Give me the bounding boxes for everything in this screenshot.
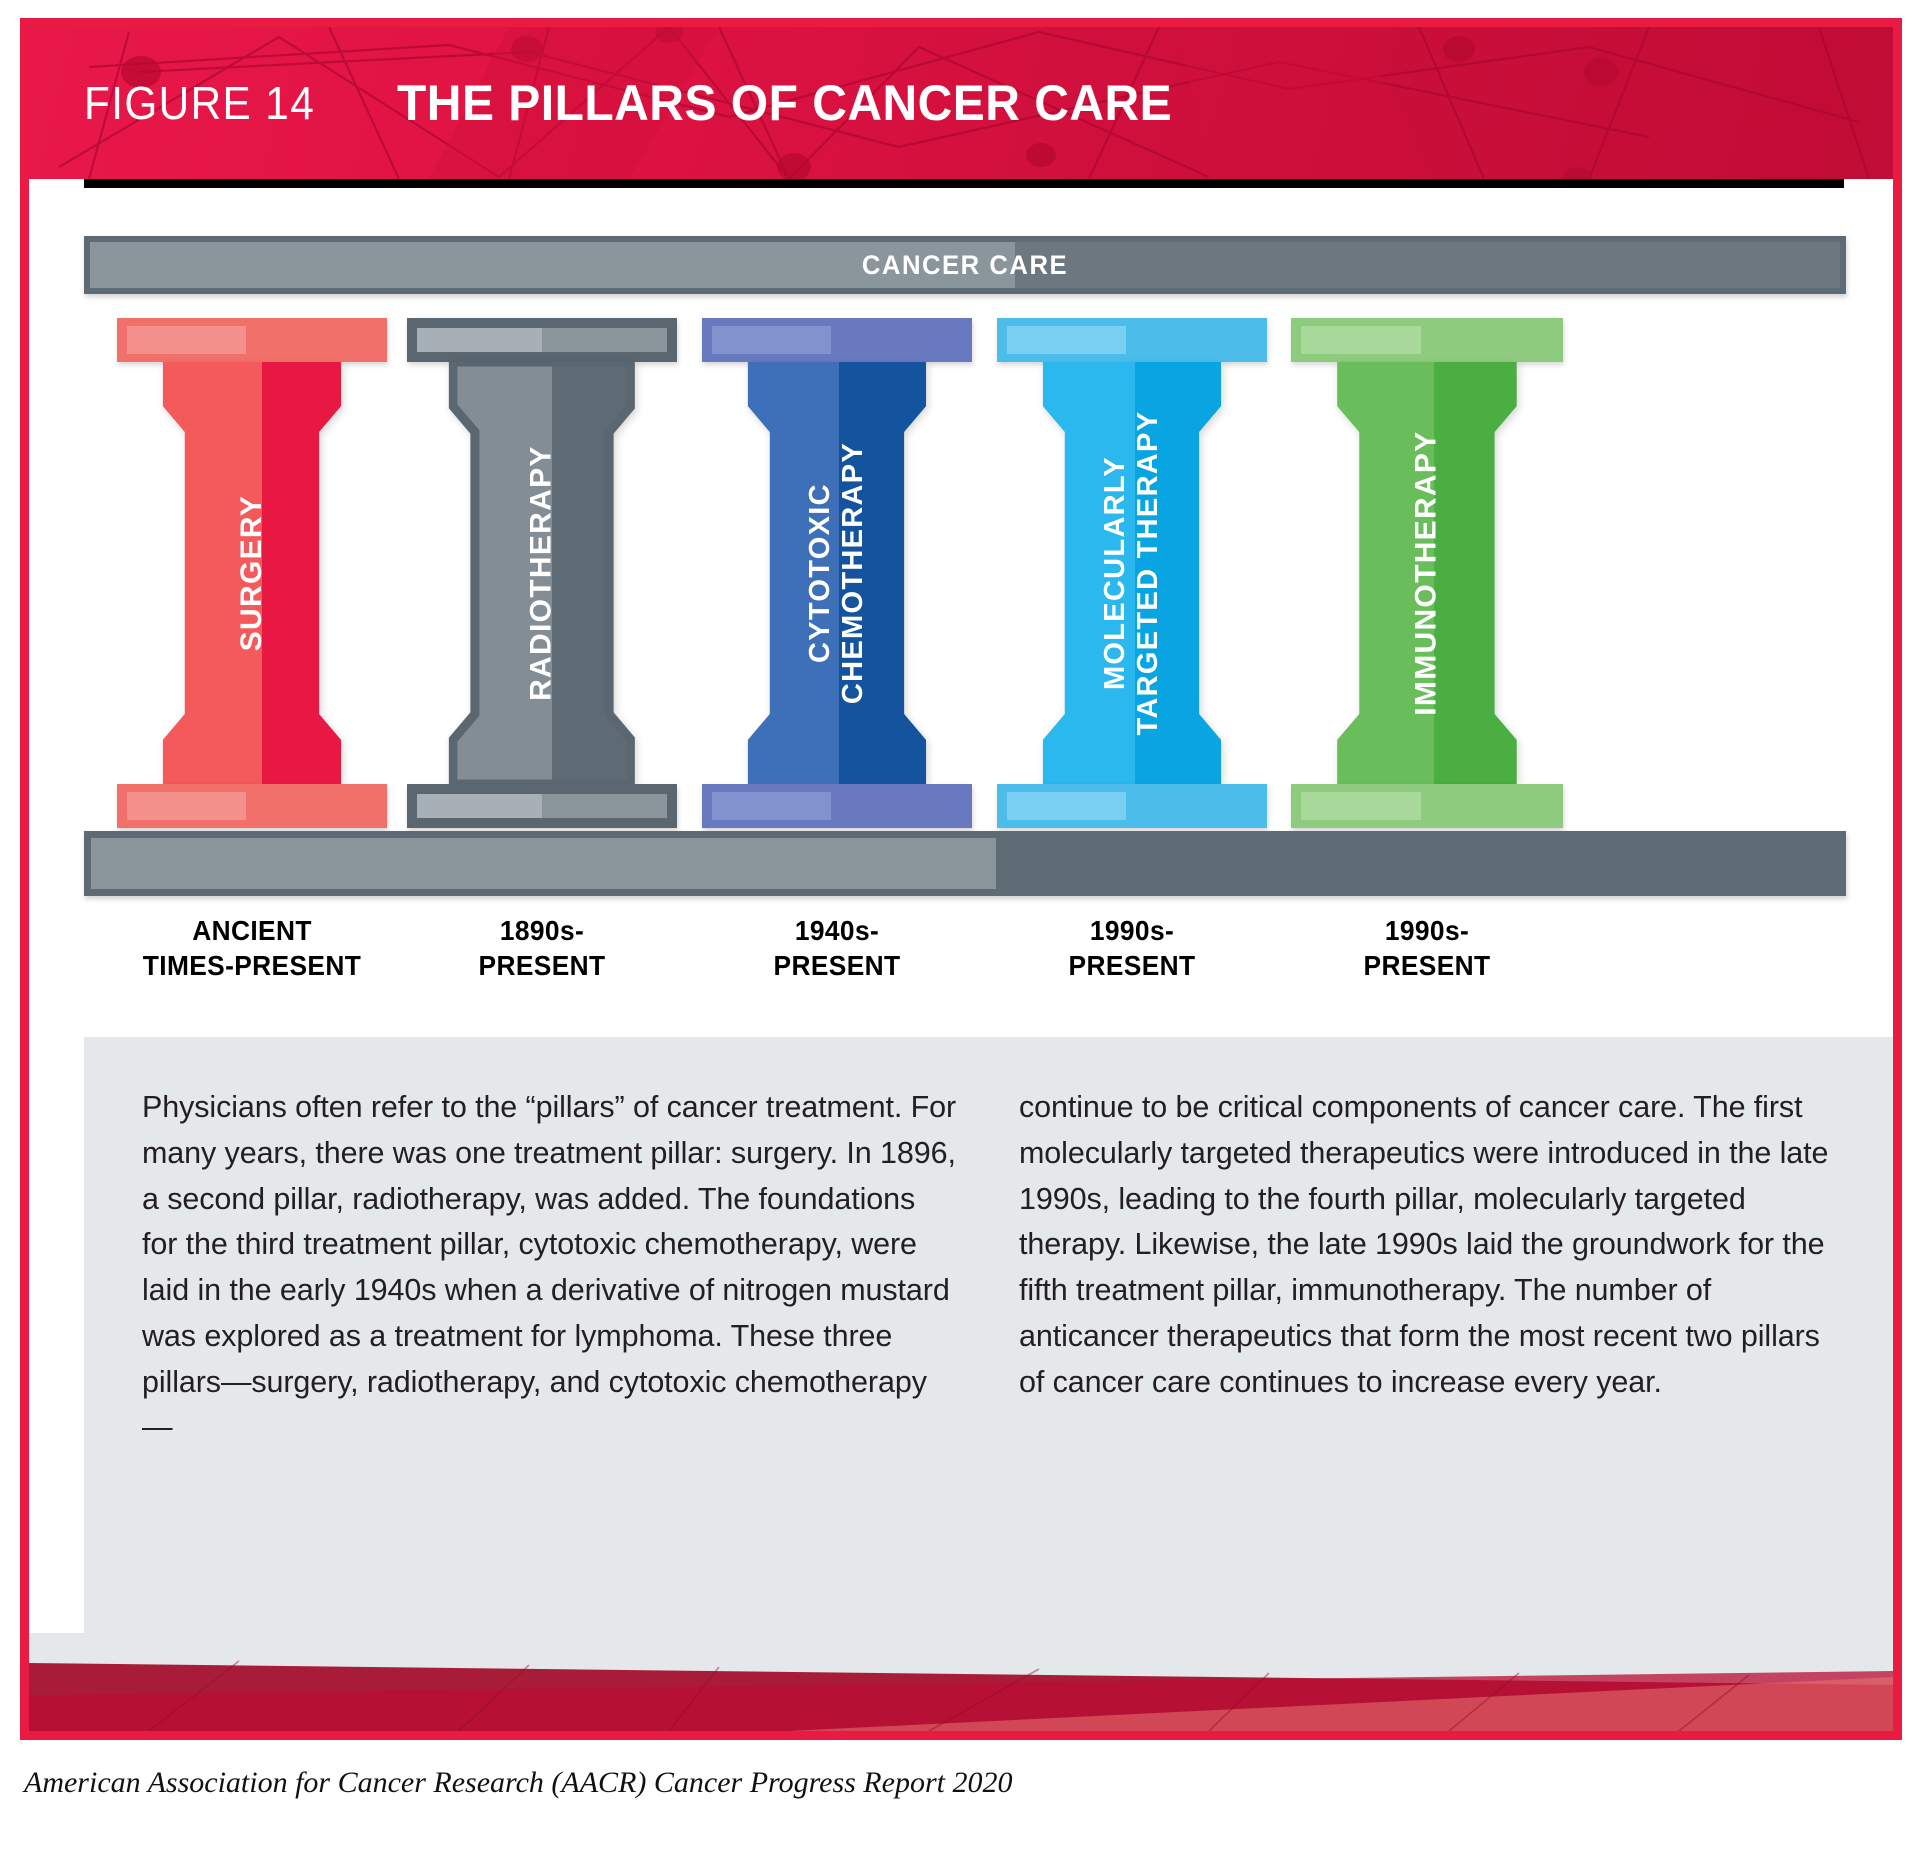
pillar-column: CYTOTOXIC CHEMOTHERAPY xyxy=(744,362,930,784)
pillars-row: SURGERY xyxy=(29,188,1893,1033)
date-line-1: 1940s- xyxy=(795,915,879,946)
capital-highlight xyxy=(712,326,831,354)
pillar-base xyxy=(407,784,677,828)
date-label-radiotherapy: 1890s- PRESENT xyxy=(406,913,679,983)
pillar-column: SURGERY xyxy=(159,362,345,784)
figure-header: FIGURE 14 THE PILLARS OF CANCER CARE xyxy=(29,27,1893,179)
pillar-capital xyxy=(1291,318,1563,362)
caption-column-left: Physicians often refer to the “pillars” … xyxy=(142,1085,957,1637)
date-line-1: 1990s- xyxy=(1090,915,1174,946)
capital-highlight xyxy=(127,326,246,354)
figure-title: THE PILLARS OF CANCER CARE xyxy=(397,74,1172,132)
pillar-capital xyxy=(407,318,677,362)
date-line-2: TIMES-PRESENT xyxy=(143,950,361,981)
pillar-immunotherapy[interactable]: IMMUNOTHERAPY xyxy=(1291,318,1563,828)
date-line-2: PRESENT xyxy=(1069,950,1196,981)
pillar-molecularly-targeted-therapy[interactable]: MOLECULARLY TARGETED THERAPY xyxy=(997,318,1267,828)
pillar-capital xyxy=(997,318,1267,362)
date-line-2: PRESENT xyxy=(774,950,901,981)
capital-base-fill xyxy=(542,328,667,352)
pillar-surgery[interactable]: SURGERY xyxy=(117,318,387,828)
caption-text-right: continue to be critical components of ca… xyxy=(1019,1085,1834,1405)
caption-column-right: continue to be critical components of ca… xyxy=(1019,1085,1834,1637)
pillar-capital xyxy=(702,318,972,362)
capital-highlight xyxy=(1007,326,1126,354)
pillar-base xyxy=(117,784,387,828)
date-label-surgery: ANCIENT TIMES-PRESENT xyxy=(97,913,407,983)
pillar-base xyxy=(702,784,972,828)
date-line-2: PRESENT xyxy=(479,950,606,981)
timeline-labels: ANCIENT TIMES-PRESENT 1890s- PRESENT 194… xyxy=(29,913,1893,1023)
capital-highlight xyxy=(417,328,542,352)
date-line-1: 1990s- xyxy=(1385,915,1469,946)
base-highlight xyxy=(1301,792,1421,820)
pillar-cytotoxic-chemotherapy[interactable]: CYTOTOXIC CHEMOTHERAPY xyxy=(702,318,972,828)
pillar-radiotherapy[interactable]: RADIOTHERAPY xyxy=(407,318,677,828)
date-label-molecularly-targeted-therapy: 1990s- PRESENT xyxy=(996,913,1269,983)
base-highlight xyxy=(1007,792,1126,820)
header-divider xyxy=(84,179,1844,188)
base-highlight xyxy=(127,792,246,820)
attribution-text: American Association for Cancer Research… xyxy=(24,1766,1012,1800)
pillar-base xyxy=(997,784,1267,828)
pillar-column: RADIOTHERAPY xyxy=(449,362,635,784)
figure-frame: FIGURE 14 THE PILLARS OF CANCER CARE CAN… xyxy=(20,18,1902,1740)
date-line-1: 1890s- xyxy=(500,915,584,946)
caption-text-left: Physicians often refer to the “pillars” … xyxy=(142,1085,957,1451)
base-highlight xyxy=(417,794,542,818)
base-highlight xyxy=(712,792,831,820)
footer-band xyxy=(29,1633,1893,1731)
pillar-base xyxy=(1291,784,1563,828)
pillar-column: MOLECULARLY TARGETED THERAPY xyxy=(1039,362,1225,784)
foundation-beam-light xyxy=(91,838,996,889)
capital-highlight xyxy=(1301,326,1421,354)
caption-panel: Physicians often refer to the “pillars” … xyxy=(84,1037,1894,1667)
figure-number-label: FIGURE 14 xyxy=(84,76,315,130)
foundation-beam xyxy=(84,831,1846,896)
base-base-fill xyxy=(542,794,667,818)
date-label-cytotoxic-chemotherapy: 1940s- PRESENT xyxy=(701,913,974,983)
date-line-1: ANCIENT xyxy=(192,915,312,946)
date-line-2: PRESENT xyxy=(1364,950,1491,981)
pillar-column: IMMUNOTHERAPY xyxy=(1333,362,1521,784)
pillars-diagram: CANCER CARE xyxy=(29,188,1893,1033)
date-label-immunotherapy: 1990s- PRESENT xyxy=(1291,913,1564,983)
pillar-capital xyxy=(117,318,387,362)
